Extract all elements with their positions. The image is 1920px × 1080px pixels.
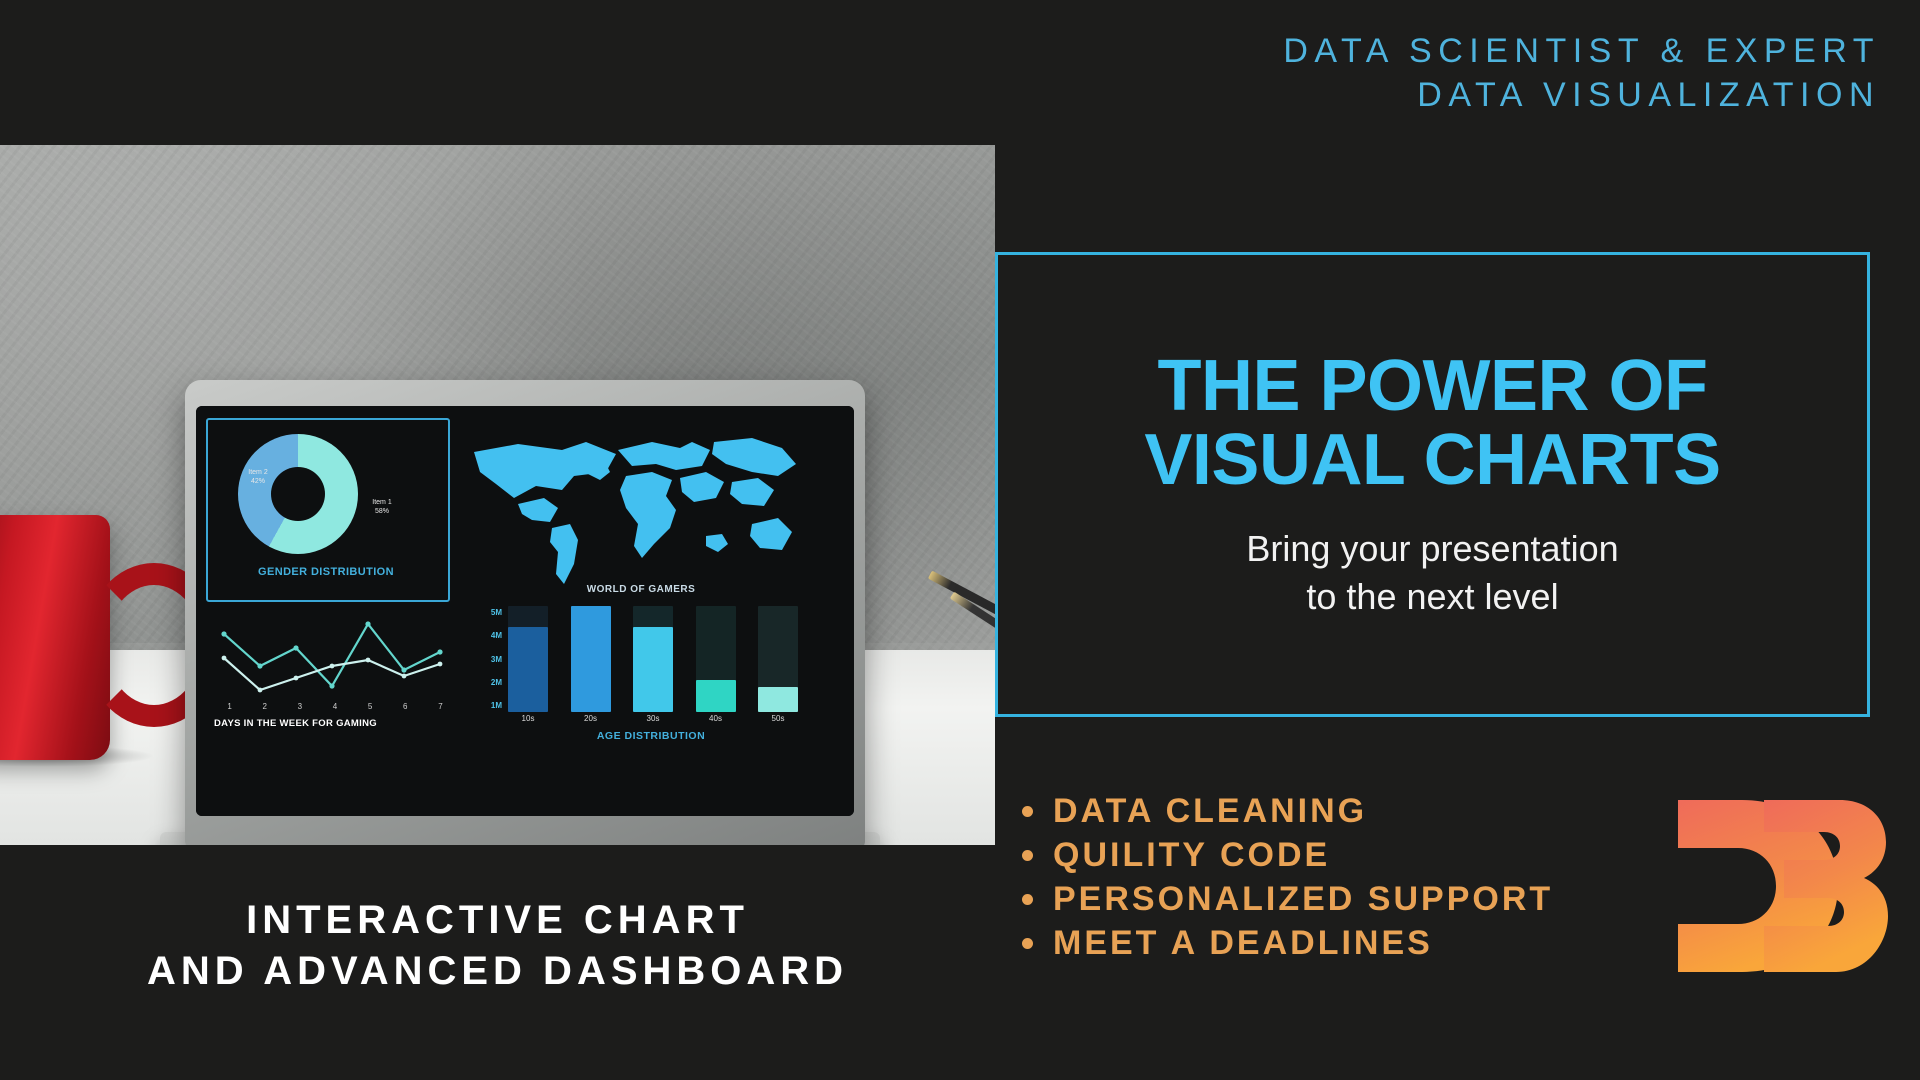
bullet-label: QUILITY CODE [1053, 834, 1330, 878]
bar-column [758, 606, 798, 712]
bar-y-tick: 1M [476, 701, 502, 710]
bar-chart-x-axis: 10s 20s 30s 40s 50s [508, 714, 798, 723]
bar-fill [508, 627, 548, 712]
bullet-dot-icon [1022, 850, 1033, 861]
line-chart-title: DAYS IN THE WEEK FOR GAMING [214, 718, 464, 729]
bar-column [508, 606, 548, 712]
bullet-dot-icon [1022, 806, 1033, 817]
bar-chart-title: AGE DISTRIBUTION [496, 730, 806, 742]
bar-y-tick: 3M [476, 655, 502, 664]
bullet-item[interactable]: MEET A DEADLINES [1022, 922, 1742, 966]
line-chart-x-axis: 1 2 3 4 5 6 7 [212, 702, 458, 711]
laptop-device: Item 2 42% Item 1 58% GENDER DISTRIBUTIO… [160, 380, 880, 845]
d3-logo [1672, 786, 1888, 986]
bar-x-tick: 40s [696, 714, 736, 723]
eyebrow-heading: DATA SCIENTIST & EXPERT DATA VISUALIZATI… [1000, 30, 1880, 117]
hero-title-line-1: THE POWER OF [1158, 346, 1708, 426]
line-x-tick: 6 [403, 702, 407, 711]
eyebrow-line-2: DATA VISUALIZATION [1000, 74, 1880, 118]
gender-chart-title: GENDER DISTRIBUTION [206, 566, 446, 578]
bar-column [571, 606, 611, 712]
age-bar-chart: 5M 4M 3M 2M 1M 10s 20s 30s 40s 50s [476, 606, 806, 746]
bullet-dot-icon [1022, 938, 1033, 949]
hero-subtitle-line-2: to the next level [1306, 576, 1558, 617]
world-map-chart [466, 424, 816, 594]
donut-label-item2: Item 2 42% [234, 468, 282, 486]
eyebrow-line-1: DATA SCIENTIST & EXPERT [1000, 30, 1880, 74]
bar-chart-y-axis: 5M 4M 3M 2M 1M [476, 608, 502, 710]
bar-x-tick: 50s [758, 714, 798, 723]
donut-label-item1-name: Item 1 [372, 499, 391, 506]
line-x-tick: 3 [298, 702, 302, 711]
bar-column [696, 606, 736, 712]
bar-fill [696, 680, 736, 712]
hero-subtitle-line-1: Bring your presentation [1246, 528, 1618, 569]
donut-label-item1: Item 1 58% [358, 498, 406, 516]
hero-content: THE POWER OF VISUAL CHARTS Bring your pr… [998, 255, 1867, 714]
donut-label-item1-value: 58% [375, 508, 389, 515]
line-x-tick: 7 [438, 702, 442, 711]
hero-box: THE POWER OF VISUAL CHARTS Bring your pr… [995, 252, 1870, 717]
services-bullet-list: DATA CLEANINGQUILITY CODEPERSONALIZED SU… [1022, 790, 1742, 965]
bar-column [633, 606, 673, 712]
caption-line-1: INTERACTIVE CHART [0, 895, 995, 946]
bar-chart-bars [508, 606, 798, 712]
bar-fill [633, 627, 673, 712]
hero-title: THE POWER OF VISUAL CHARTS [1144, 349, 1720, 497]
d3-logo-icon [1672, 786, 1888, 986]
bar-y-tick: 5M [476, 608, 502, 617]
line-x-tick: 1 [227, 702, 231, 711]
donut-ring [238, 434, 358, 554]
bar-y-tick: 2M [476, 678, 502, 687]
donut-label-item2-value: 42% [251, 478, 265, 485]
line-x-tick: 4 [333, 702, 337, 711]
laptop-screen: Item 2 42% Item 1 58% GENDER DISTRIBUTIO… [196, 406, 854, 816]
line-chart-svg [208, 614, 458, 706]
world-map-icon [466, 424, 816, 594]
days-line-chart: 1 2 3 4 5 6 7 DAYS IN THE WEEK FOR GAMIN… [208, 614, 458, 734]
photo-caption: INTERACTIVE CHART AND ADVANCED DASHBOARD [0, 895, 995, 997]
donut-label-item2-name: Item 2 [248, 469, 267, 476]
gender-donut-chart: Item 2 42% Item 1 58% [238, 434, 358, 554]
laptop-photo: Item 2 42% Item 1 58% GENDER DISTRIBUTIO… [0, 145, 995, 845]
dashboard: Item 2 42% Item 1 58% GENDER DISTRIBUTIO… [196, 406, 854, 816]
bar-x-tick: 10s [508, 714, 548, 723]
bullet-label: MEET A DEADLINES [1053, 922, 1433, 966]
bullet-label: DATA CLEANING [1053, 790, 1367, 834]
caption-line-2: AND ADVANCED DASHBOARD [0, 946, 995, 997]
bar-fill [758, 687, 798, 712]
bullet-item[interactable]: PERSONALIZED SUPPORT [1022, 878, 1742, 922]
bar-x-tick: 20s [571, 714, 611, 723]
bar-y-tick: 4M [476, 631, 502, 640]
bullet-dot-icon [1022, 894, 1033, 905]
poster-canvas: Item 2 42% Item 1 58% GENDER DISTRIBUTIO… [0, 0, 1920, 1080]
bar-x-tick: 30s [633, 714, 673, 723]
line-x-tick: 2 [262, 702, 266, 711]
bullet-label: PERSONALIZED SUPPORT [1053, 878, 1553, 922]
bullet-item[interactable]: DATA CLEANING [1022, 790, 1742, 834]
bullet-item[interactable]: QUILITY CODE [1022, 834, 1742, 878]
hero-subtitle: Bring your presentation to the next leve… [1246, 525, 1618, 620]
hero-title-line-2: VISUAL CHARTS [1144, 420, 1720, 500]
bar-fill [571, 606, 611, 712]
world-map-title: WORLD OF GAMERS [466, 584, 816, 595]
line-x-tick: 5 [368, 702, 372, 711]
